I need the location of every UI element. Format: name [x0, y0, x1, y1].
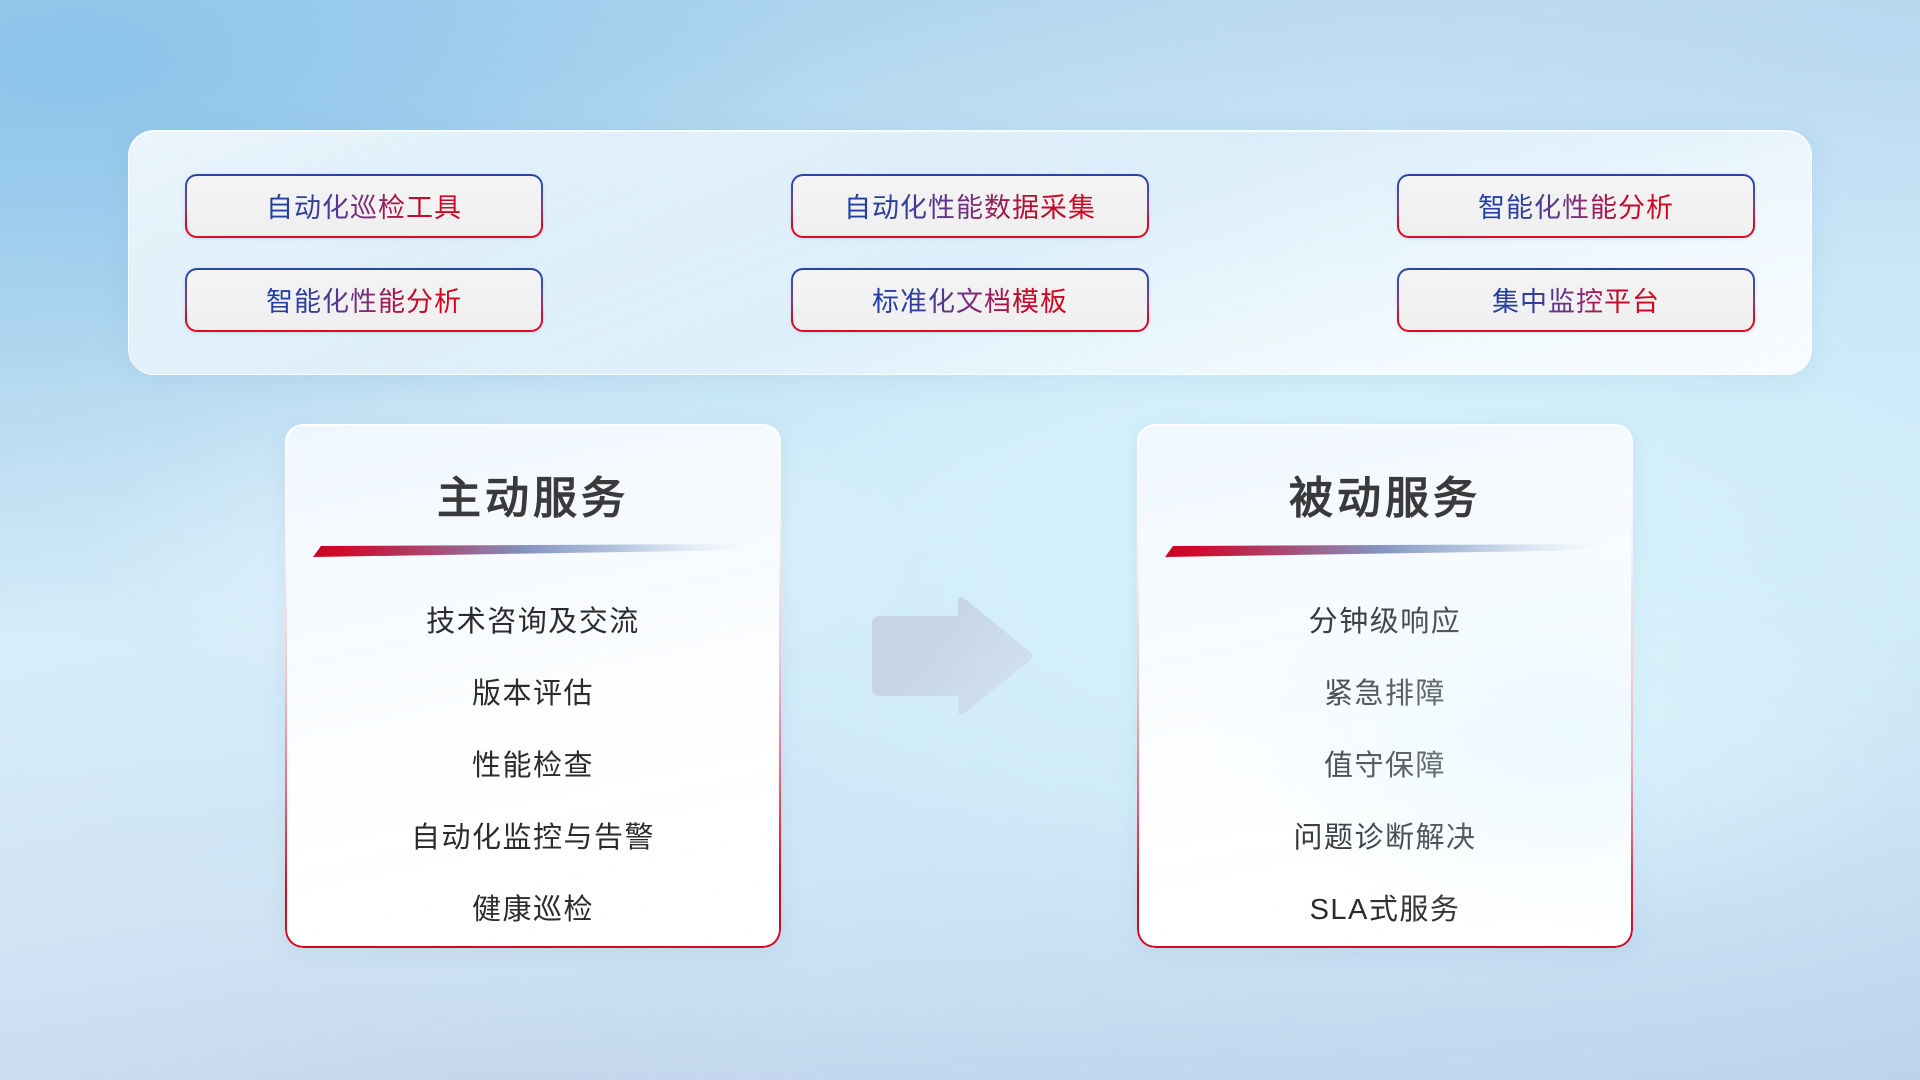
card-item-list: 分钟级响应 紧急排障 值守保障 问题诊断解决 SLA式服务	[1137, 586, 1633, 946]
list-item: 健康巡检	[472, 874, 594, 946]
capability-pill-label: 自动化性能数据采集	[844, 186, 1096, 225]
slide-canvas: 自动化巡检工具 自动化性能数据采集 智能化性能分析 智能化性能分析	[0, 0, 1920, 1080]
capability-pill-label: 自动化巡检工具	[266, 186, 462, 225]
card-divider	[313, 544, 753, 557]
capability-pill[interactable]: 自动化性能数据采集	[791, 174, 1149, 238]
capability-panel: 自动化巡检工具 自动化性能数据采集 智能化性能分析 智能化性能分析	[128, 130, 1812, 375]
capability-pill-inner: 智能化性能分析	[1399, 176, 1753, 236]
capability-pill[interactable]: 智能化性能分析	[185, 268, 543, 332]
capability-pill[interactable]: 标准化文档模板	[791, 268, 1149, 332]
capability-row-2: 智能化性能分析 标准化文档模板 集中监控平台	[185, 268, 1755, 332]
capability-pill-label: 标准化文档模板	[872, 280, 1068, 319]
capability-row-1: 自动化巡检工具 自动化性能数据采集 智能化性能分析	[185, 174, 1755, 238]
card-title: 被动服务	[1137, 462, 1633, 526]
capability-pill-label: 智能化性能分析	[266, 280, 462, 319]
capability-pill-inner: 集中监控平台	[1399, 270, 1753, 330]
list-item: SLA式服务	[1310, 874, 1461, 946]
arrow-right-icon	[866, 594, 1032, 714]
capability-pill[interactable]: 自动化巡检工具	[185, 174, 543, 238]
list-item: 值守保障	[1324, 730, 1446, 802]
list-item: 自动化监控与告警	[411, 802, 655, 874]
capability-pill-inner: 标准化文档模板	[793, 270, 1147, 330]
capability-pill-inner: 自动化巡检工具	[187, 176, 541, 236]
service-card-proactive: 主动服务 技术咨询及交流 版本评估	[285, 424, 781, 948]
capability-pill-label: 智能化性能分析	[1478, 186, 1674, 225]
list-item: 分钟级响应	[1309, 586, 1462, 658]
card-divider	[1165, 544, 1605, 557]
capability-pill[interactable]: 集中监控平台	[1397, 268, 1755, 332]
list-item: 性能检查	[472, 730, 594, 802]
list-item: 问题诊断解决	[1293, 802, 1476, 874]
capability-pill-label: 集中监控平台	[1492, 280, 1660, 319]
service-card-reactive: 被动服务 分钟级响应 紧急排障	[1137, 424, 1633, 948]
capability-pill-inner: 自动化性能数据采集	[793, 176, 1147, 236]
list-item: 版本评估	[472, 658, 594, 730]
card-title: 主动服务	[285, 462, 781, 526]
capability-pill[interactable]: 智能化性能分析	[1397, 174, 1755, 238]
card-item-list: 技术咨询及交流 版本评估 性能检查 自动化监控与告警 健康巡检	[285, 586, 781, 946]
list-item: 紧急排障	[1324, 658, 1446, 730]
list-item: 技术咨询及交流	[426, 586, 640, 658]
capability-pill-inner: 智能化性能分析	[187, 270, 541, 330]
